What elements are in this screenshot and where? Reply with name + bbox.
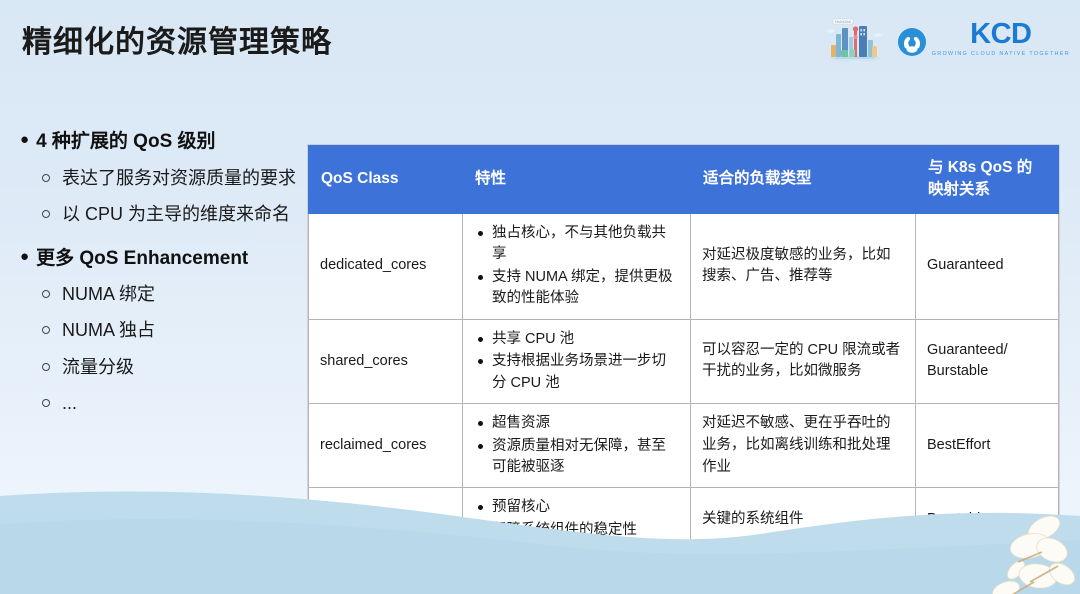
bullet-circle-icon — [42, 326, 50, 334]
svg-text:SHANGHAI: SHANGHAI — [834, 20, 851, 24]
table-row: dedicated_cores 独占核心，不与其他负载共享 支持 NUMA 绑定… — [309, 213, 1059, 319]
cell-qos-class: system_cores — [309, 488, 463, 551]
cell-features: 独占核心，不与其他负载共享 支持 NUMA 绑定，提供更极致的性能体验 — [463, 213, 691, 319]
bullet-sub-label: NUMA 绑定 — [62, 280, 305, 309]
cell-workload: 对延迟不敏感、更在乎吞吐的业务，比如离线训练和批处理作业 — [691, 404, 916, 488]
bullet-group-qos-levels: ● 4 种扩展的 QoS 级别 表达了服务对资源质量的要求 以 CPU 为主导的… — [20, 128, 305, 229]
kcd-hands-icon — [895, 27, 929, 57]
column-header-qos-class: QoS Class — [309, 146, 463, 214]
table-row: reclaimed_cores 超售资源 资源质量相对无保障，甚至可能被驱逐 对… — [309, 404, 1059, 488]
page-title: 精细化的资源管理策略 — [22, 24, 332, 62]
table-row: system_cores 预留核心 保障系统组件的稳定性 关键的系统组件 Bur… — [309, 488, 1059, 551]
cell-workload: 对延迟极度敏感的业务，比如搜索、广告、推荐等 — [691, 213, 916, 319]
cell-qos-class: dedicated_cores — [309, 213, 463, 319]
bullet-sub-item: NUMA 绑定 — [42, 280, 305, 309]
bullet-sub-label: ... — [62, 389, 305, 418]
feature-item: 共享 CPU 池 — [490, 329, 679, 350]
bullet-circle-icon — [42, 290, 50, 298]
bullet-sub-item: 表达了服务对资源质量的要求 — [42, 164, 305, 193]
city-skyline-icon: SHANGHAI — [823, 12, 887, 66]
bullet-circle-icon — [42, 399, 50, 407]
feature-item: 支持 NUMA 绑定，提供更极致的性能体验 — [490, 267, 679, 310]
cell-workload: 关键的系统组件 — [691, 488, 916, 551]
bullet-group-qos-enhancement: ● 更多 QoS Enhancement NUMA 绑定 NUMA 独占 流量分… — [20, 245, 305, 418]
column-header-workload: 适合的负载类型 — [691, 146, 916, 214]
bullet-sub-item: NUMA 独占 — [42, 316, 305, 345]
feature-item: 资源质量相对无保障，甚至可能被驱逐 — [490, 436, 679, 479]
bullet-sub-label: 流量分级 — [62, 353, 305, 382]
cell-k8s-qos: Guaranteed/ Burstable — [916, 319, 1059, 403]
table-row: shared_cores 共享 CPU 池 支持根据业务场景进一步切分 CPU … — [309, 319, 1059, 403]
cell-features: 共享 CPU 池 支持根据业务场景进一步切分 CPU 池 — [463, 319, 691, 403]
bullet-dot-icon: ● — [20, 245, 29, 269]
feature-item: 支持根据业务场景进一步切分 CPU 池 — [490, 351, 679, 394]
kcd-wordmark-group: KCD GROWING CLOUD NATIVE TOGETHER — [895, 21, 1070, 57]
cell-features: 预留核心 保障系统组件的稳定性 — [463, 488, 691, 551]
bullet-sub-label: 以 CPU 为主导的维度来命名 — [62, 200, 305, 229]
feature-item: 保障系统组件的稳定性 — [490, 520, 679, 541]
cell-k8s-qos: Burstable — [916, 488, 1059, 551]
column-header-features: 特性 — [463, 146, 691, 214]
cell-qos-class: reclaimed_cores — [309, 404, 463, 488]
bullet-circle-icon — [42, 363, 50, 371]
bullet-list: ● 4 种扩展的 QoS 级别 表达了服务对资源质量的要求 以 CPU 为主导的… — [20, 128, 305, 434]
bullet-sub-item: 以 CPU 为主导的维度来命名 — [42, 200, 305, 229]
bullet-circle-icon — [42, 174, 50, 182]
cell-features: 超售资源 资源质量相对无保障，甚至可能被驱逐 — [463, 404, 691, 488]
cell-k8s-qos: Guaranteed — [916, 213, 1059, 319]
bullet-sub-item: 流量分级 — [42, 353, 305, 382]
feature-item: 超售资源 — [490, 413, 679, 434]
kcd-logo: SHANGHAI — [823, 12, 1070, 66]
kcd-tagline: GROWING CLOUD NATIVE TOGETHER — [932, 51, 1070, 57]
bullet-sub-label: NUMA 独占 — [62, 316, 305, 345]
cell-k8s-qos: BestEffort — [916, 404, 1059, 488]
column-header-k8s-qos: 与 K8s QoS 的映射关系 — [916, 146, 1059, 214]
table-header-row: QoS Class 特性 适合的负载类型 与 K8s QoS 的映射关系 — [309, 146, 1059, 214]
bullet-top-label: 更多 QoS Enhancement — [36, 245, 248, 274]
slide-canvas: 精细化的资源管理策略 SHANGHAI — [0, 0, 1080, 594]
cell-qos-class: shared_cores — [309, 319, 463, 403]
cell-workload: 可以容忍一定的 CPU 限流或者干扰的业务，比如微服务 — [691, 319, 916, 403]
bullet-circle-icon — [42, 210, 50, 218]
bullet-top-level: ● 更多 QoS Enhancement — [20, 245, 305, 274]
bullet-top-level: ● 4 种扩展的 QoS 级别 — [20, 128, 305, 157]
feature-item: 独占核心，不与其他负载共享 — [490, 223, 679, 266]
qos-class-table: QoS Class 特性 适合的负载类型 与 K8s QoS 的映射关系 ded… — [308, 145, 1059, 551]
bullet-sub-label: 表达了服务对资源质量的要求 — [62, 164, 305, 193]
feature-item: 预留核心 — [490, 497, 679, 518]
bullet-sub-item: ... — [42, 389, 305, 418]
bullet-top-label: 4 种扩展的 QoS 级别 — [36, 128, 215, 157]
kcd-logo-text: KCD — [970, 21, 1031, 49]
bullet-dot-icon: ● — [20, 128, 29, 152]
